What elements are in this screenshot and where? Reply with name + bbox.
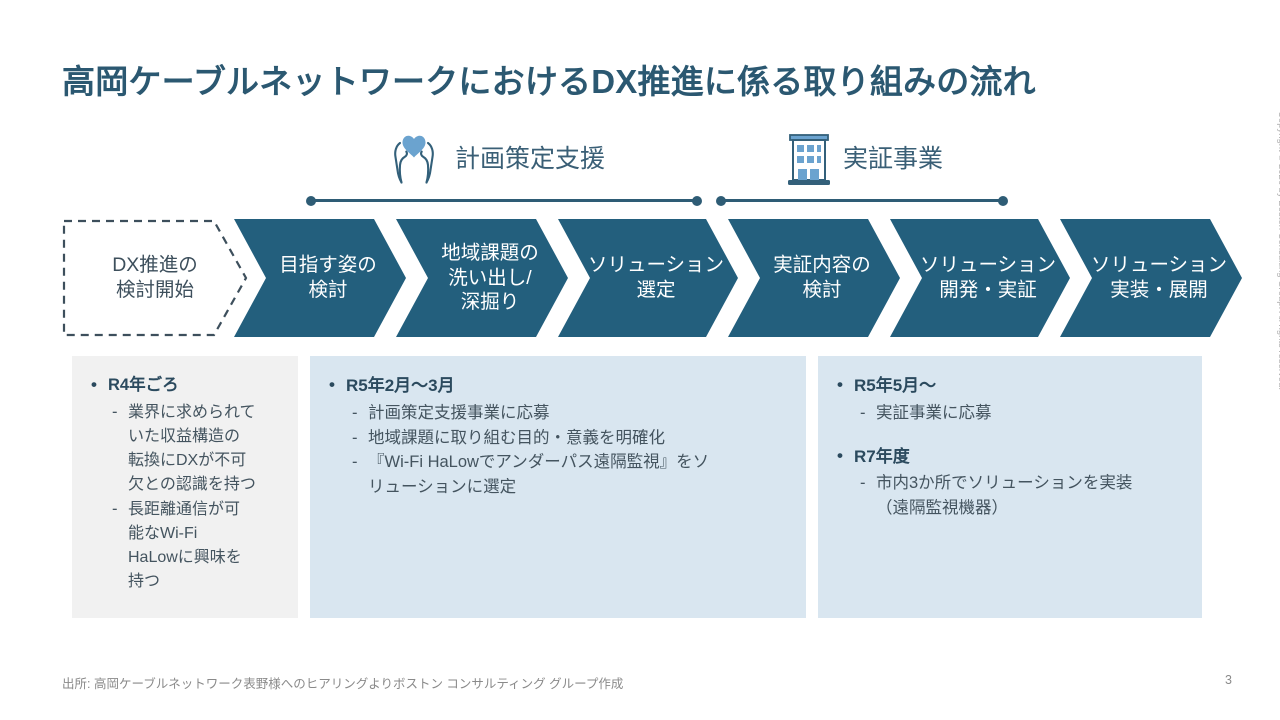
detail-item: 計画策定支援事業に応募 [326, 402, 790, 426]
detail-item: 地域課題に取り組む目的・意義を明確化 [326, 427, 790, 451]
detail-item-cont: 転換にDXが不可 [88, 449, 282, 472]
chevron-label: DX推進の 検討開始 [112, 253, 198, 303]
chevron-content[interactable]: 実証内容の 検討 [728, 219, 900, 337]
connector-dot-right [998, 196, 1008, 206]
block-spacer [834, 427, 1186, 445]
chevron-issues[interactable]: 地域課題の 洗い出し/ 深掘り [396, 219, 568, 337]
detail-box-phase-3: R5年5月〜 実証事業に応募 R7年度 市内3か所でソリューションを実装 （遠隔… [818, 356, 1202, 618]
copyright-notice: Copyright © 2026 by Boston Consulting Gr… [1276, 111, 1280, 390]
chevron-vision[interactable]: 目指す姿の 検討 [234, 219, 406, 337]
legend-demo-label: 実証事業 [843, 139, 943, 175]
chevron-start[interactable]: DX推進の 検討開始 [62, 219, 248, 337]
detail-item: 実証事業に応募 [834, 402, 1186, 426]
chevron-selection[interactable]: ソリューション 選定 [558, 219, 738, 337]
legend-plan-label: 計画策定支援 [455, 139, 605, 175]
detail-item-cont: リューションに選定 [326, 476, 790, 500]
connector-dot-right [692, 196, 702, 206]
chevron-label: 目指す姿の 検討 [263, 253, 377, 303]
hands-heart-icon [383, 126, 445, 188]
detail-box-phase-2: R5年2月〜3月 計画策定支援事業に応募 地域課題に取り組む目的・意義を明確化 … [310, 356, 806, 618]
detail-box-phase-1: R4年ごろ 業界に求められて いた収益構造の 転換にDXが不可 欠との認識を持つ… [72, 356, 298, 618]
footer-divider [0, 655, 1280, 656]
building-icon [785, 126, 833, 188]
process-chevron-row: DX推進の 検討開始 目指す姿の 検討 地域課題の 洗い出し/ 深掘り ソリュー… [62, 219, 1202, 337]
legend-demonstration: 実証事業 [785, 126, 943, 188]
detail-heading: R4年ごろ [88, 374, 282, 398]
source-note: 出所: 高岡ケーブルネットワーク表野様へのヒアリングよりボストン コンサルティン… [62, 673, 623, 692]
connector-bar [310, 199, 698, 202]
chevron-label: ソリューション 開発・実証 [904, 253, 1056, 303]
detail-item: 市内3か所でソリューションを実装 [834, 472, 1186, 496]
detail-item: 業界に求められて [88, 401, 282, 424]
detail-item-cont: 持つ [88, 570, 282, 593]
detail-item: 長距離通信が可 [88, 498, 282, 521]
chevron-label: 地域課題の 洗い出し/ 深掘り [425, 241, 539, 316]
chevron-deploy[interactable]: ソリューション 実装・展開 [1060, 219, 1242, 337]
detail-heading: R7年度 [834, 445, 1186, 470]
detail-item-cont: 能なWi-Fi [88, 522, 282, 545]
chevron-label: ソリューション 選定 [572, 253, 724, 303]
slide-canvas: 高岡ケーブルネットワークにおけるDX推進に係る取り組みの流れ 計画策定支援 [0, 0, 1280, 720]
detail-item-cont: （遠隔監視機器） [834, 497, 1186, 521]
detail-item: 『Wi-Fi HaLowでアンダーパス遠隔監視』をソ [326, 451, 790, 475]
detail-item-cont: HaLowに興味を [88, 546, 282, 569]
legend-plan-support: 計画策定支援 [383, 126, 605, 188]
connector-bar [720, 199, 1004, 202]
page-number: 3 [1225, 673, 1232, 687]
chevron-develop[interactable]: ソリューション 開発・実証 [890, 219, 1070, 337]
detail-heading: R5年5月〜 [834, 374, 1186, 399]
detail-heading: R5年2月〜3月 [326, 374, 790, 399]
connector-plan-phase [306, 196, 702, 206]
detail-item-cont: 欠との認識を持つ [88, 473, 282, 496]
page-title: 高岡ケーブルネットワークにおけるDX推進に係る取り組みの流れ [62, 55, 1182, 103]
chevron-label: ソリューション 実装・展開 [1075, 253, 1227, 303]
chevron-label: 実証内容の 検討 [757, 253, 871, 303]
detail-item-cont: いた収益構造の [88, 425, 282, 448]
connector-demo-phase [716, 196, 1008, 206]
